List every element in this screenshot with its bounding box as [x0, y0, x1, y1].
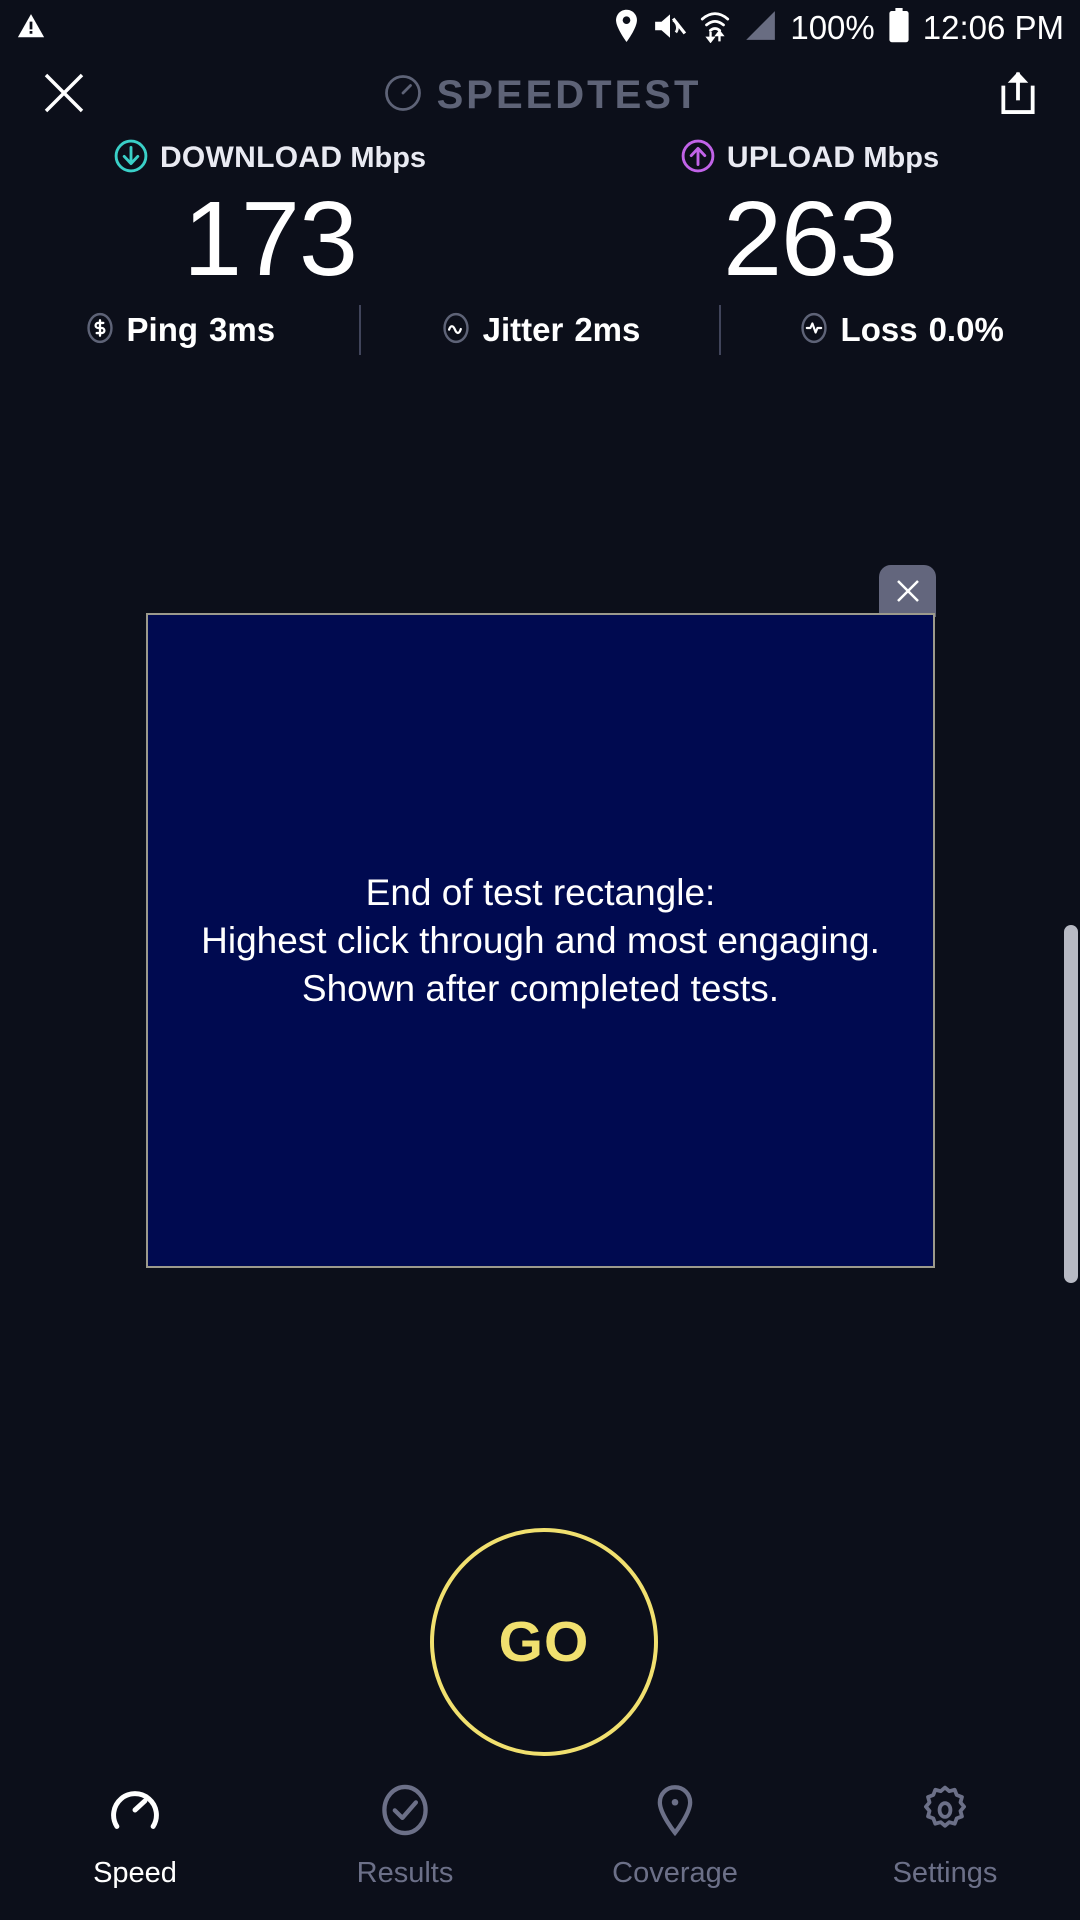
metric-jitter: Jitter 2ms	[361, 311, 720, 349]
jitter-icon	[440, 312, 472, 349]
nav-label-coverage: Coverage	[612, 1857, 738, 1890]
jitter-label: Jitter	[483, 311, 564, 349]
speedometer-icon	[107, 1782, 163, 1843]
location-pin-icon	[613, 9, 640, 48]
speedometer-icon	[383, 73, 423, 118]
speed-row: DOWNLOAD Mbps 173 UPLOAD Mbps 263	[0, 136, 1080, 292]
jitter-value: 2ms	[574, 311, 640, 349]
wifi-data-transfer-icon	[700, 9, 730, 48]
page-title: SPEEDTEST	[437, 73, 702, 118]
ad-text-line: Highest click through and most engaging.	[201, 917, 880, 965]
close-icon	[893, 576, 923, 606]
loss-value: 0.0%	[929, 311, 1004, 349]
ping-icon	[84, 312, 116, 349]
loss-label: Loss	[841, 311, 918, 349]
upload-header: UPLOAD Mbps	[681, 136, 939, 180]
clock-label: 12:06 PM	[923, 9, 1064, 47]
app-header: SPEEDTEST	[0, 56, 1080, 134]
check-circle-icon	[377, 1782, 433, 1843]
battery-full-icon	[888, 8, 910, 49]
loss-icon	[798, 312, 830, 349]
warning-triangle-icon	[16, 11, 46, 46]
bottom-navigation-bar: Speed Results Coverage Settings	[0, 1770, 1080, 1920]
system-status-bar: 100% 12:06 PM	[0, 0, 1080, 56]
vertical-scrollbar[interactable]	[1064, 925, 1078, 1283]
ping-value: 3ms	[209, 311, 275, 349]
close-app-button[interactable]	[40, 69, 88, 122]
cellular-signal-icon	[743, 10, 777, 47]
share-icon	[996, 69, 1040, 117]
nav-label-results: Results	[357, 1857, 454, 1890]
download-value: 173	[183, 186, 357, 292]
download-result: DOWNLOAD Mbps 173	[0, 136, 540, 292]
download-label: DOWNLOAD	[160, 141, 342, 175]
share-button[interactable]	[996, 69, 1040, 122]
results-summary: DOWNLOAD Mbps 173 UPLOAD Mbps 263	[0, 136, 1080, 292]
ad-close-button[interactable]	[879, 565, 936, 617]
upload-label: UPLOAD	[727, 141, 855, 175]
mute-icon	[653, 10, 687, 47]
gear-icon	[917, 1782, 973, 1843]
nav-item-settings[interactable]: Settings	[810, 1782, 1080, 1890]
nav-label-speed: Speed	[93, 1857, 177, 1890]
status-bar-left-icons	[16, 11, 46, 46]
location-pin-icon	[647, 1782, 703, 1843]
ad-text: End of test rectangle: Highest click thr…	[177, 869, 904, 1013]
metrics-row: Ping 3ms Jitter 2ms Loss 0.0%	[0, 300, 1080, 360]
nav-item-results[interactable]: Results	[270, 1782, 540, 1890]
go-button-label: GO	[499, 1609, 590, 1675]
upload-result: UPLOAD Mbps 263	[540, 136, 1080, 292]
ad-text-line: Shown after completed tests.	[201, 965, 880, 1013]
metric-loss: Loss 0.0%	[721, 311, 1080, 349]
download-arrow-icon	[114, 139, 148, 178]
go-button[interactable]: GO	[430, 1528, 658, 1756]
nav-item-speed[interactable]: Speed	[0, 1782, 270, 1890]
upload-unit: Mbps	[863, 142, 939, 175]
speedtest-app-screen: 100% 12:06 PM SPEEDTEST	[0, 0, 1080, 1920]
status-bar-right-icons: 100% 12:06 PM	[613, 8, 1064, 49]
download-unit: Mbps	[350, 142, 426, 175]
battery-percent-label: 100%	[790, 9, 874, 47]
metric-ping: Ping 3ms	[0, 311, 359, 349]
ad-text-line: End of test rectangle:	[201, 869, 880, 917]
download-header: DOWNLOAD Mbps	[114, 136, 426, 180]
close-icon	[40, 69, 88, 117]
ping-label: Ping	[127, 311, 199, 349]
nav-item-coverage[interactable]: Coverage	[540, 1782, 810, 1890]
ad-banner[interactable]: End of test rectangle: Highest click thr…	[146, 613, 935, 1268]
nav-label-settings: Settings	[893, 1857, 998, 1890]
brand: SPEEDTEST	[383, 73, 702, 118]
upload-value: 263	[723, 186, 897, 292]
upload-arrow-icon	[681, 139, 715, 178]
